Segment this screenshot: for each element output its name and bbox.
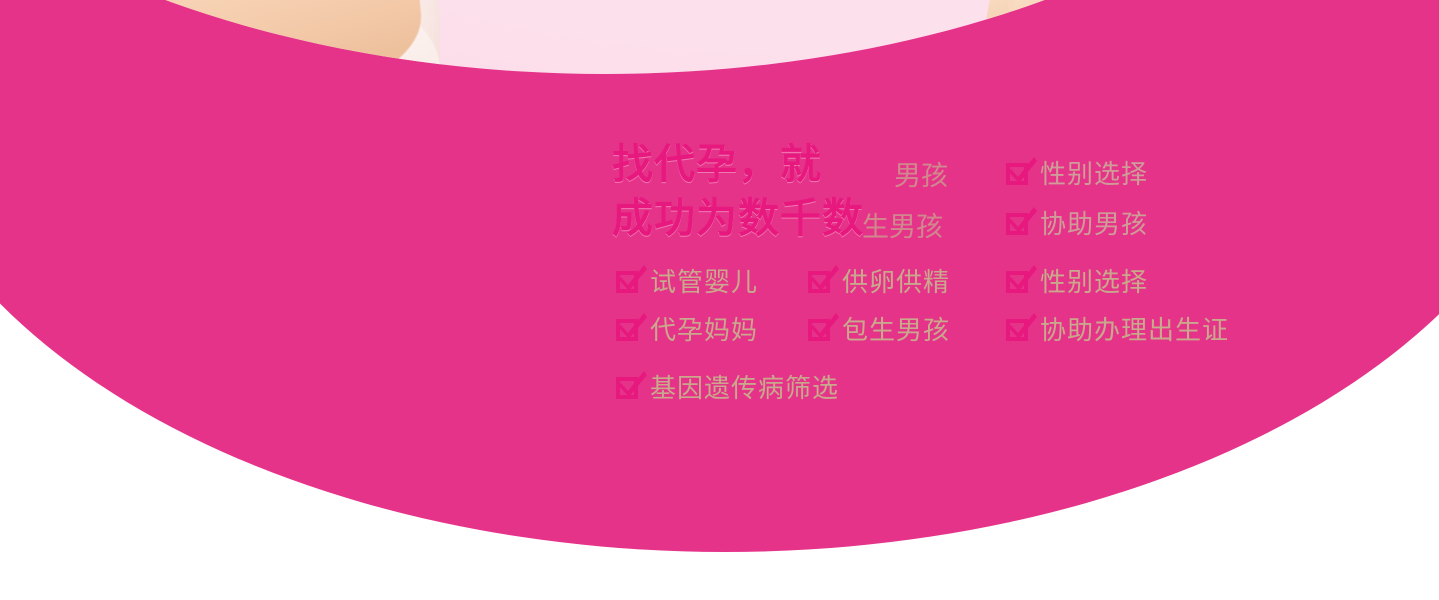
promo-banner: 男孩 生男孩 性别选择协助男孩试管婴儿供卵供精性别选择代孕妈妈包生男孩协助办理出… xyxy=(0,0,1439,600)
checklist-item[interactable]: 协助办理出生证 xyxy=(1006,310,1229,347)
headline-line-2: 成功为数千数 xyxy=(612,190,1032,246)
checklist-item[interactable]: 试管婴儿 xyxy=(616,262,758,299)
checkbox-checked-icon xyxy=(616,316,641,341)
headline-line-1: 找代孕，就 xyxy=(612,136,1032,192)
checklist-item[interactable]: 基因遗传病筛选 xyxy=(616,368,839,405)
checklist-item-label: 性别选择 xyxy=(1040,154,1148,191)
banner-ellipse-stage xyxy=(0,0,1439,74)
checklist-item-label: 基因遗传病筛选 xyxy=(650,368,839,405)
checklist-item[interactable]: 性别选择 xyxy=(1006,262,1148,299)
checkbox-checked-icon xyxy=(808,316,833,341)
checklist-item-label: 包生男孩 xyxy=(842,310,950,347)
hand-holding-rose-photo xyxy=(920,0,1160,74)
checkbox-checked-icon xyxy=(616,374,641,399)
checkbox-checked-icon xyxy=(808,268,833,293)
mother-and-baby-photo xyxy=(0,0,400,70)
checklist-item-label: 试管婴儿 xyxy=(650,262,758,299)
checklist-item-label: 协助办理出生证 xyxy=(1040,310,1229,347)
checkbox-checked-icon xyxy=(1006,316,1031,341)
checklist-item-label: 供卵供精 xyxy=(842,262,950,299)
checklist-item-label: 协助男孩 xyxy=(1040,204,1148,241)
checkbox-checked-icon xyxy=(616,268,641,293)
checklist-item[interactable]: 包生男孩 xyxy=(808,310,950,347)
headline: 找代孕，就 成功为数千数 xyxy=(612,136,1032,246)
checklist-item[interactable]: 供卵供精 xyxy=(808,262,950,299)
checklist-item-label: 性别选择 xyxy=(1040,262,1148,299)
checklist-item-label: 代孕妈妈 xyxy=(650,310,758,347)
checklist-item[interactable]: 代孕妈妈 xyxy=(616,310,758,347)
checkbox-checked-icon xyxy=(1006,268,1031,293)
